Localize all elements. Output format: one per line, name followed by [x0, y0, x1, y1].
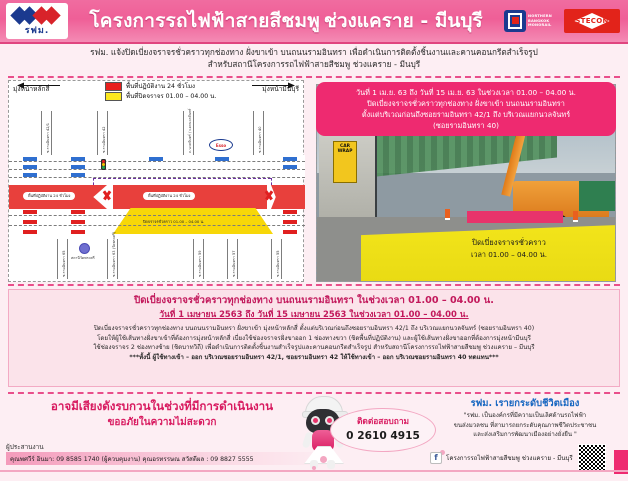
- map-work-area-left-label: พื้นที่ปฏิบัติงาน 24 ชั่วโมง: [23, 192, 75, 200]
- mrta-logo-word: รฟม.: [25, 27, 50, 36]
- legend-swatch-yellow: [105, 92, 122, 101]
- map-lane-line-5: [9, 225, 305, 226]
- photo-tape-line-2: เวลา 01.00 – 04.00 น.: [409, 249, 609, 261]
- map-arrow-inbound-5: [71, 220, 85, 224]
- map-arrow-outbound-1: [23, 157, 37, 161]
- announcement-detail-box: ปิดเบี่ยงจราจรชั่วคราวทุกช่องทาง บนถนนรา…: [8, 289, 620, 387]
- facebook-row[interactable]: f โครงการรถไฟฟ้าสายสีชมพู ช่วงแคราย - มี…: [430, 452, 580, 464]
- stecon-diamond-icon: STECON: [570, 13, 614, 29]
- contact-bubble[interactable]: ติดต่อสอบถาม 0 2610 4915: [330, 408, 436, 452]
- map-lane-line-1: [9, 161, 305, 162]
- mascot-eye-left: [311, 416, 320, 425]
- qr-code-icon[interactable]: [578, 444, 606, 472]
- nbm-logo-text: NORTHERN BANGKOK MONORAIL: [528, 14, 552, 27]
- noise-line-1: อาจมีเสียงดังรบกวนในช่วงที่มีการดำเนินงา…: [18, 398, 306, 415]
- mrta-slogan-line-3: และส่งเสริมการพัฒนาเมืองอย่างยั่งยืน ": [430, 430, 620, 440]
- contact-phone-number[interactable]: 0 2610 4915: [331, 429, 435, 444]
- map-arrow-outbound-4: [215, 157, 229, 161]
- legend-item-closure: พื้นที่ปิดจราจร 01.00 – 04.00 น.: [105, 92, 216, 102]
- map-arrow-inbound-4: [23, 220, 37, 224]
- mrta-diamond-icon: [11, 6, 63, 26]
- map-soi-top-2-label: ซ.รามอินทรา 42: [101, 126, 107, 153]
- map-arrow-inbound-3: [283, 210, 297, 214]
- map-arrow-outbound-3: [149, 157, 163, 161]
- stecon-logo-text: STECON: [575, 17, 608, 25]
- map-soi-top-1-label: ซ.รามอินทรา 42/1: [45, 123, 51, 153]
- map-traffic-light-icon: [101, 159, 106, 170]
- legend-item-work-area: พื้นที่ปฏิบัติงาน 24 ชั่วโมง: [105, 82, 216, 92]
- divider-middle: [8, 284, 620, 286]
- map-top-bar: มุ่งหน้าหลักสี่ มุ่งหน้ามีนบุรี พื้นที่ป…: [9, 81, 303, 107]
- map-arrow-outbound-6: [23, 165, 37, 169]
- announcement-body-line-4: ***ทั้งนี้ ผู้ใช้ทางเข้า – ออก บริเวณซอย…: [9, 353, 619, 363]
- map-arrow-inbound-9: [283, 230, 297, 234]
- nbm-line3: MONORAIL: [528, 23, 552, 27]
- announcement-heading-2: วันที่ 1 เมษายน 2563 ถึง วันที่ 15 เมษาย…: [9, 308, 619, 321]
- arrow-right-icon: [251, 82, 295, 89]
- mrta-slogan-title: รฟม. เรายกระดับชีวิตเมือง: [430, 396, 620, 411]
- footer-rule: [0, 470, 628, 472]
- divider-top: [8, 76, 620, 78]
- mrta-slogan-line-1: "รฟม. เป็นองค์กรที่มีความเป็นเลิศด้านรถไ…: [430, 411, 620, 421]
- coordinator-label: ผู้ประสานงาน: [6, 442, 44, 452]
- photo-cone-2: [573, 211, 578, 222]
- map-legend: พื้นที่ปฏิบัติงาน 24 ชั่วโมง พื้นที่ปิดจ…: [105, 82, 216, 101]
- map-soi-top-4-label: ซ.รามอินทรา 40: [257, 126, 263, 153]
- map-detour-route-left: [93, 178, 94, 185]
- map-soi-bottom-2-label: ซ.รามอินทรา 63 (วัดพระศรี): [111, 232, 117, 277]
- facebook-icon[interactable]: f: [430, 452, 442, 464]
- map-closed-x-2: [261, 185, 277, 207]
- callout-line-1: วันที่ 1 เม.ย. 63 ถึง วันที่ 15 เม.ย. 63…: [324, 87, 608, 98]
- map-detour-route: [93, 178, 271, 179]
- arrow-left-icon: [17, 82, 61, 89]
- noise-line-2: ขออภัยในความไม่สะดวก: [18, 415, 306, 431]
- map-soi-top-3-label: ถ.นวลจันทร์ / แยกนวลจันทร์: [187, 109, 193, 154]
- noise-apology: อาจมีเสียงดังรบกวนในช่วงที่มีการดำเนินงา…: [18, 398, 306, 431]
- map-station-marker: [79, 243, 90, 254]
- map-arrow-inbound-6: [283, 220, 297, 224]
- map-arrow-outbound-9: [23, 173, 37, 177]
- map-arrow-outbound-2: [71, 157, 85, 161]
- announcement-body-line-3: ใช้ช่องจราจร 2 ช่องทางซ้าย (ชิดบาทวิถี) …: [9, 343, 619, 353]
- mrta-slogan-block: รฟม. เรายกระดับชีวิตเมือง "รฟม. เป็นองค์…: [430, 396, 620, 440]
- map-canvas: ซ.รามอินทรา 42/1 ซ.รามอินทรา 42 ถ.นวลจัน…: [9, 107, 303, 281]
- map-gas-station-label: Esso: [216, 143, 226, 148]
- map-arrow-inbound-7: [23, 230, 37, 234]
- poster-header: รฟม. โครงการรถไฟฟ้าสายสีชมพูช่วงแคราย - …: [0, 0, 628, 44]
- coordinator-contacts: คุณพศวีร์ อินมา: 09 8585 1740 (ผู้ควบคุม…: [6, 454, 254, 464]
- stecon-logo: STECON: [564, 9, 620, 33]
- announcement-body-line-2: โดยให้ผู้ใช้เส้นทางฝั่งขาเข้าที่ต้องการม…: [9, 334, 619, 344]
- map-soi-bottom-5-label: ซ.รามอินทรา 55: [275, 250, 281, 277]
- title-sub: ช่วงแคราย - มีนบุรี: [324, 10, 483, 32]
- callout-line-4: (ซอยรามอินทรา 40): [324, 120, 608, 131]
- mascot-leg-right: [327, 460, 335, 469]
- map-arrow-outbound-8: [283, 165, 297, 169]
- poster-root: รฟม. โครงการรถไฟฟ้าสายสีชมพูช่วงแคราย - …: [0, 0, 628, 481]
- photo-car-wrap-sign: CAR WRAP: [333, 141, 357, 183]
- map-arrow-inbound-2: [71, 210, 85, 214]
- map-arrow-outbound-10: [71, 173, 85, 177]
- photo-tape-line-1: ปิดเบี่ยงจราจรชั่วคราว: [409, 237, 609, 249]
- mrta-slogan-line-2: ขนส่งมวลชน ที่สามารถยกระดับคุณภาพชีวิตปร…: [430, 421, 620, 431]
- map-station-label: สถานีวัดพระศรี: [71, 255, 95, 261]
- subtitle-block: รฟม. แจ้งปิดเบี่ยงจราจรชั่วคราวทุกช่องทา…: [0, 42, 628, 75]
- footer-block: อาจมีเสียงดังรบกวนในช่วงที่มีการดำเนินงา…: [0, 394, 628, 481]
- subtitle-line-2: สำหรับสถานีโครงการรถไฟฟ้าสายสีชมพู ช่วงแ…: [0, 58, 628, 70]
- map-lane-line-4: [9, 215, 305, 216]
- announcement-body: ปิดเบี่ยงจราจรชั่วคราวทุกช่องทาง บนถนนรา…: [9, 324, 619, 363]
- map-gas-station-icon: Esso: [209, 139, 233, 151]
- date-callout: วันที่ 1 เม.ย. 63 ถึง วันที่ 15 เม.ย. 63…: [316, 82, 616, 136]
- callout-line-3: ตั้งแต่บริเวณก่อนถึงซอยรามอินทรา 42/1 ถึ…: [324, 109, 608, 120]
- photo-cone-1: [445, 209, 450, 220]
- coordinator-contact-bar: คุณพศวีร์ อินมา: 09 8585 1740 (ผู้ควบคุม…: [6, 452, 336, 465]
- callout-line-2: ปิดเบี่ยงจราจรชั่วคราวทุกช่องทาง ฝั่งขาเ…: [324, 98, 608, 109]
- contact-bubble-label: ติดต่อสอบถาม: [331, 414, 435, 429]
- photo-green-truck: [579, 181, 616, 211]
- map-arrow-outbound-7: [71, 165, 85, 169]
- page-title: โครงการรถไฟฟ้าสายสีชมพูช่วงแคราย - มีนบุ…: [68, 6, 504, 36]
- bubble-dot-1: [320, 456, 327, 463]
- announcement-body-line-1: ปิดเบี่ยงจราจรชั่วคราวทุกช่องทาง บนถนนรา…: [9, 324, 619, 334]
- map-soi-bottom-4-label: ซ.รามอินทรา 57: [231, 250, 237, 277]
- map-work-area-center-label: พื้นที่ปฏิบัติงาน 24 ชั่วโมง: [143, 192, 195, 200]
- map-lane-line-2: [9, 169, 305, 170]
- title-main: โครงการรถไฟฟ้าสายสีชมพู: [89, 10, 320, 32]
- map-arrow-inbound-1: [23, 210, 37, 214]
- northern-bangkok-monorail-logo: NORTHERN BANGKOK MONORAIL: [504, 9, 560, 33]
- photo-car-wrap-sign-text: CAR WRAP: [334, 144, 356, 154]
- map-closed-x-1: [99, 185, 115, 207]
- map-detour-route-right: [271, 178, 272, 185]
- announcement-heading-1: ปิดเบี่ยงจราจรชั่วคราวทุกช่องทาง บนถนนรา…: [9, 294, 619, 308]
- photo-pink-barrier: [467, 211, 563, 223]
- photo-tape-caption: ปิดเบี่ยงจราจรชั่วคราว เวลา 01.00 – 04.0…: [409, 237, 609, 261]
- nbm-mark-icon: [504, 10, 526, 32]
- map-soi-bottom-1-label: ซ.รามอินทรา 65: [61, 250, 67, 277]
- facebook-page-name[interactable]: โครงการรถไฟฟ้าสายสีชมพู ช่วงแคราย - มีนบ…: [446, 453, 573, 463]
- map-arrow-inbound-8: [71, 230, 85, 234]
- mrta-logo: รฟม.: [6, 3, 68, 39]
- map-soi-bottom-3-label: ซ.รามอินทรา 59: [197, 250, 203, 277]
- subtitle-line-1: รฟม. แจ้งปิดเบี่ยงจราจรชั่วคราวทุกช่องทา…: [0, 46, 628, 58]
- traffic-diversion-map: มุ่งหน้าหลักสี่ มุ่งหน้ามีนบุรี พื้นที่ป…: [8, 80, 304, 282]
- legend-label-work-area: พื้นที่ปฏิบัติงาน 24 ชั่วโมง: [126, 82, 195, 92]
- map-arrow-outbound-5: [283, 157, 297, 161]
- legend-label-closure: พื้นที่ปิดจราจร 01.00 – 04.00 น.: [126, 92, 216, 102]
- legend-swatch-red: [105, 82, 122, 91]
